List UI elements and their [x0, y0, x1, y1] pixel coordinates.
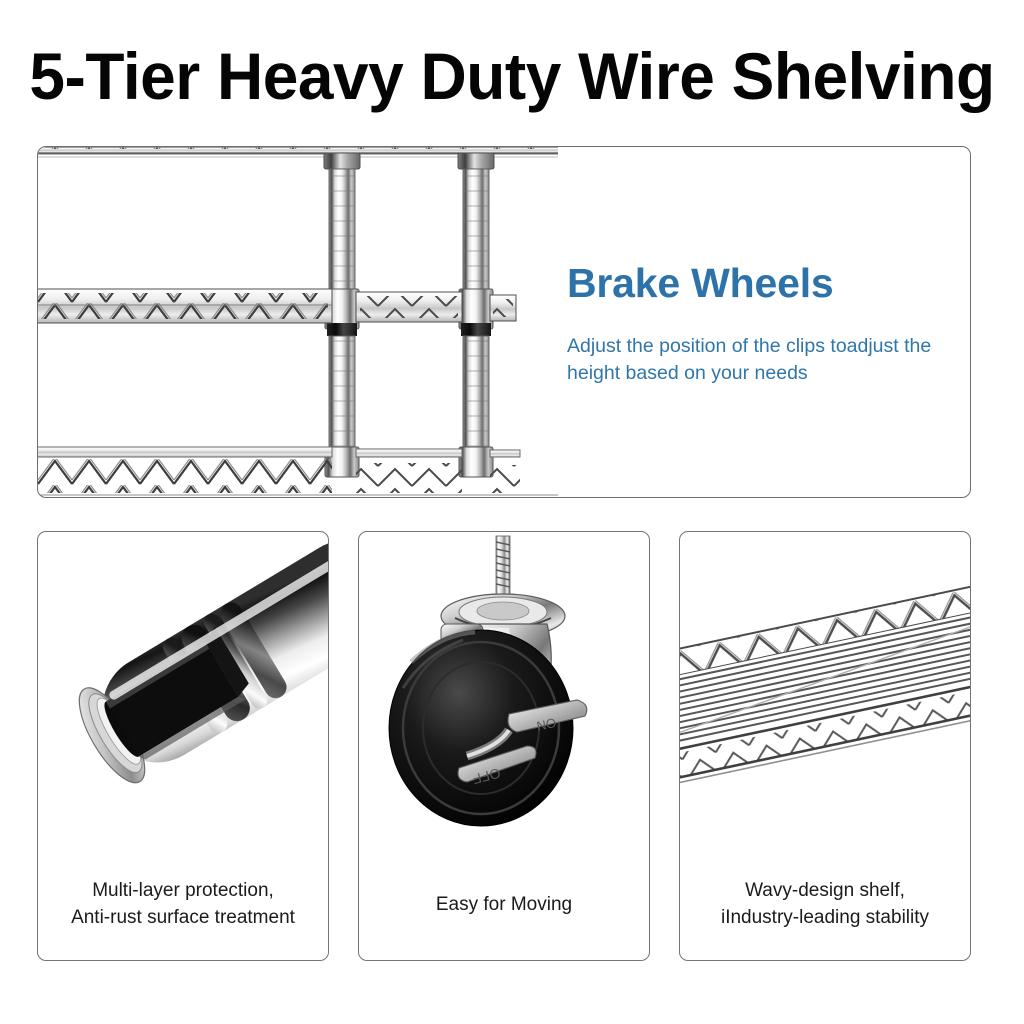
shelving-illustration: [38, 147, 558, 497]
hero-panel: Brake Wheels Adjust the position of the …: [37, 146, 971, 498]
chrome-tube-cutaway-image: [38, 532, 328, 850]
wavy-wire-shelf-image: [680, 532, 970, 850]
card-caption-line-1: Wavy-design shelf,: [721, 877, 929, 904]
hero-copy: Brake Wheels Adjust the position of the …: [567, 259, 967, 387]
card-caption-line-1: Multi-layer protection,: [71, 877, 295, 904]
feature-card-row: Multi-layer protection, Anti-rust surfac…: [37, 531, 971, 961]
hero-subtext: Adjust the position of the clips toadjus…: [567, 333, 947, 387]
page-title: 5-Tier Heavy Duty Wire Shelving: [15, 38, 1008, 114]
card-caption-line-2: iIndustry-leading stability: [721, 904, 929, 931]
card-caption: Wavy-design shelf, iIndustry-leading sta…: [680, 848, 970, 960]
card-caption-line-1: Easy for Moving: [436, 891, 572, 918]
card-caption-line-2: Anti-rust surface treatment: [71, 904, 295, 931]
card-caption: Easy for Moving: [359, 848, 649, 960]
feature-card-multi-layer-protection: Multi-layer protection, Anti-rust surfac…: [37, 531, 329, 961]
card-caption: Multi-layer protection, Anti-rust surfac…: [38, 848, 328, 960]
hero-heading: Brake Wheels: [567, 259, 967, 307]
shelving-post-right: [458, 153, 494, 477]
feature-card-easy-for-moving: ON OFF Easy for Moving: [358, 531, 650, 961]
feature-card-wavy-design-shelf: Wavy-design shelf, iIndustry-leading sta…: [679, 531, 971, 961]
middle-shelf: [38, 289, 516, 323]
swivel-caster-wheel-image: ON OFF: [359, 532, 649, 850]
